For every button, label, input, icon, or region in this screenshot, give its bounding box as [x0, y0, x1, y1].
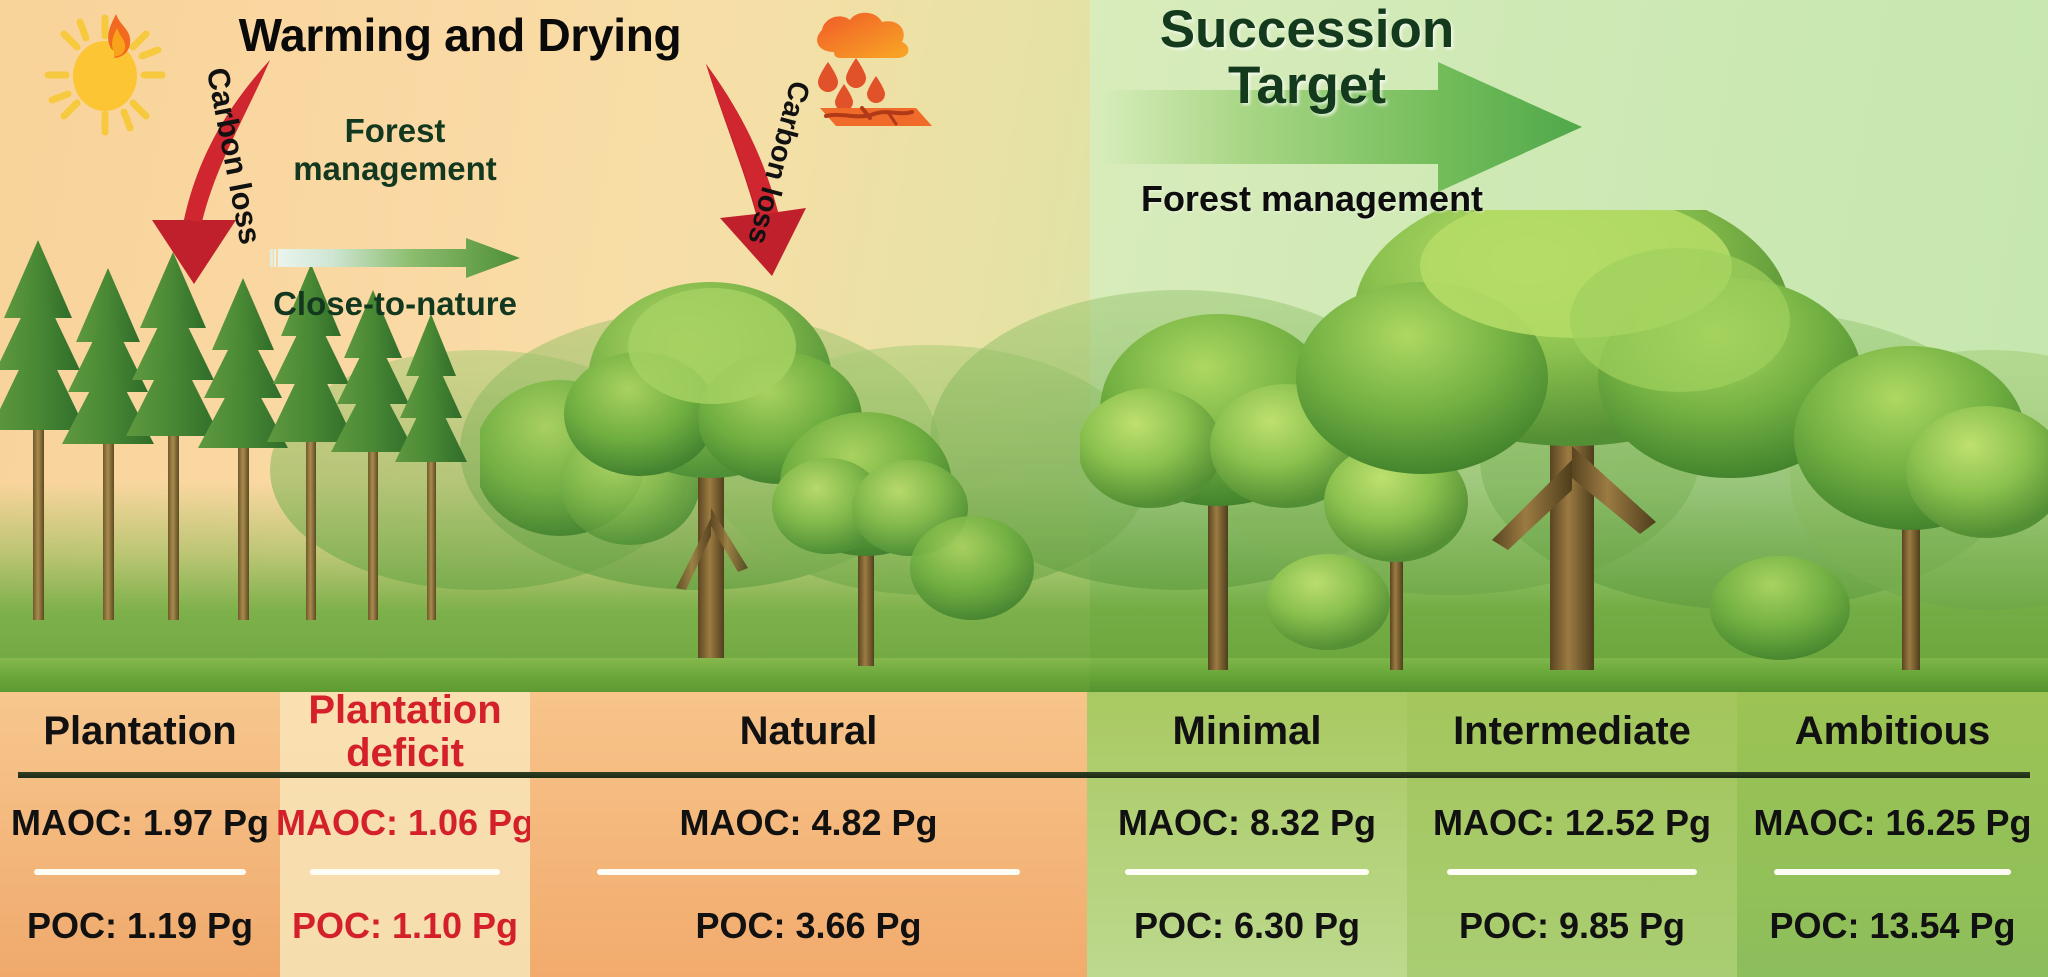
column-header-text: Ambitious — [1795, 710, 1991, 753]
forest-management-line1: Forest — [250, 112, 540, 150]
column-header-text: Plantation — [43, 710, 236, 753]
table-column-plantation-deficit: Plantation deficit MAOC: 1.06 Pg POC: 1.… — [280, 692, 530, 977]
column-header-line2: deficit — [308, 732, 501, 775]
column-header-text: Natural — [740, 710, 878, 753]
poc-cell: POC: 6.30 Pg — [1087, 875, 1407, 977]
poc-cell: POC: 13.54 Pg — [1737, 875, 2048, 977]
poc-cell: POC: 1.19 Pg — [0, 875, 280, 977]
column-header-text: Intermediate — [1453, 710, 1691, 753]
maoc-cell: MAOC: 12.52 Pg — [1407, 772, 1737, 875]
succession-target-title: Succession Target — [1112, 2, 1502, 113]
column-header: Plantation deficit — [280, 692, 530, 772]
forest-management-label-right: Forest management — [1112, 178, 1512, 220]
maoc-cell: MAOC: 16.25 Pg — [1737, 772, 2048, 875]
column-header: Natural — [530, 692, 1087, 772]
forest-management-line2: management — [250, 150, 540, 188]
table-column-natural: Natural MAOC: 4.82 Pg POC: 3.66 Pg — [530, 692, 1087, 977]
gradient-right-arrow-icon — [270, 238, 520, 278]
column-header-line1: Plantation — [308, 689, 501, 732]
maoc-cell: MAOC: 4.82 Pg — [530, 772, 1087, 875]
natural-forest-trees-left — [480, 268, 1040, 688]
maoc-cell: MAOC: 1.97 Pg — [0, 772, 280, 875]
maoc-cell: MAOC: 1.06 Pg — [280, 772, 530, 875]
forest-management-label-left: Forest management — [250, 112, 540, 188]
table-column-plantation: Plantation MAOC: 1.97 Pg POC: 1.19 Pg — [0, 692, 280, 977]
forest-carbon-infographic: Carbon loss Carbon loss — [0, 0, 2048, 977]
table-column-intermediate: Intermediate MAOC: 12.52 Pg POC: 9.85 Pg — [1407, 692, 1737, 977]
carbon-stock-table: Plantation MAOC: 1.97 Pg POC: 1.19 Pg Pl… — [0, 692, 2048, 977]
column-header-text: Minimal — [1173, 710, 1322, 753]
carbon-loss-arrow-right: Carbon loss — [698, 58, 868, 288]
column-header: Minimal — [1087, 692, 1407, 772]
column-header: Plantation — [0, 692, 280, 772]
column-header: Ambitious — [1737, 692, 2048, 772]
poc-cell: POC: 1.10 Pg — [280, 875, 530, 977]
illustration-scene: Carbon loss Carbon loss — [0, 0, 2048, 692]
table-column-ambitious: Ambitious MAOC: 16.25 Pg POC: 13.54 Pg — [1737, 692, 2048, 977]
table-column-minimal: Minimal MAOC: 8.32 Pg POC: 6.30 Pg — [1087, 692, 1407, 977]
column-header: Intermediate — [1407, 692, 1737, 772]
succession-forest-trees — [1080, 210, 2048, 680]
poc-cell: POC: 9.85 Pg — [1407, 875, 1737, 977]
maoc-cell: MAOC: 8.32 Pg — [1087, 772, 1407, 875]
table-header-rule — [18, 772, 2030, 778]
succession-line1: Succession — [1112, 2, 1502, 58]
warming-and-drying-title: Warming and Drying — [175, 8, 745, 62]
poc-cell: POC: 3.66 Pg — [530, 875, 1087, 977]
close-to-nature-label: Close-to-nature — [230, 285, 560, 323]
succession-line2: Target — [1112, 58, 1502, 114]
